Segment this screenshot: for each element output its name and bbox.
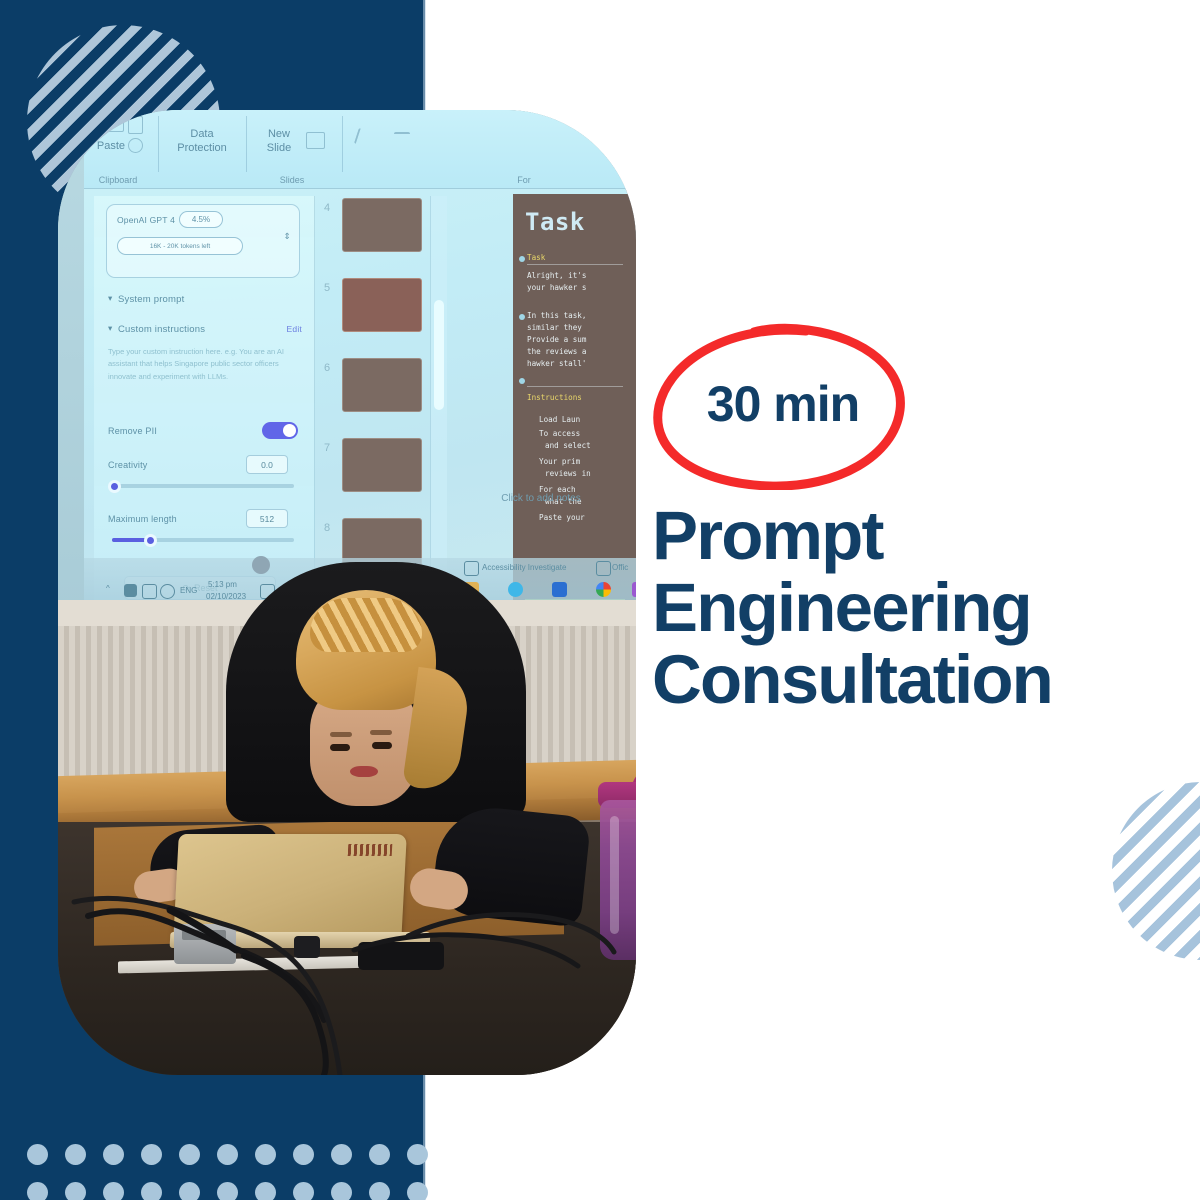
paste-button-label: Paste	[94, 140, 128, 154]
model-badge: 4.5%	[179, 211, 223, 228]
thumbnail-number: 4	[324, 202, 330, 214]
dot	[179, 1182, 200, 1200]
dot	[331, 1144, 352, 1165]
dot	[141, 1182, 162, 1200]
slide-bullet-dot	[519, 256, 525, 262]
dot	[27, 1144, 48, 1165]
current-slide[interactable]: Task Task Alright, it's your hawker s In…	[513, 194, 636, 610]
person-eye-left	[330, 744, 350, 751]
dot	[65, 1144, 86, 1165]
max-length-value[interactable]: 512	[246, 509, 288, 528]
ribbon-divider	[158, 116, 159, 172]
dot	[293, 1182, 314, 1200]
dot	[103, 1182, 124, 1200]
powerpoint-ribbon: Paste Clipboard Data Protection New Slid…	[84, 110, 636, 189]
slide-body-line-5: Provide a sum	[527, 334, 586, 346]
dot	[217, 1144, 238, 1165]
person-hair-braid	[310, 598, 422, 652]
outlook-icon[interactable]	[552, 582, 567, 597]
dot	[27, 1182, 48, 1200]
chevron-down-icon[interactable]: ▾	[108, 323, 112, 334]
power-adapter	[358, 942, 444, 970]
dot-grid-decoration	[27, 1144, 445, 1200]
page-title: Prompt Engineering Consultation	[652, 500, 1172, 715]
model-label: OpenAI GPT 4	[117, 215, 175, 225]
clipboard-icon	[104, 116, 124, 132]
max-length-slider-knob[interactable]	[144, 534, 157, 547]
dot	[369, 1144, 390, 1165]
ribbon-divider	[246, 116, 247, 172]
volume-icon[interactable]	[160, 584, 175, 599]
skype-icon[interactable]	[508, 582, 523, 597]
creativity-value[interactable]: 0.0	[246, 455, 288, 474]
slide-thumbnail-list: 4 5 6 7 8	[320, 196, 428, 610]
page-title-line-2: Engineering	[652, 572, 1172, 644]
scrollbar-thumb[interactable]	[434, 300, 444, 410]
system-prompt-label[interactable]: System prompt	[118, 294, 184, 305]
slide-body-line-2: your hawker s	[527, 282, 586, 294]
highlighter-icon	[394, 132, 410, 146]
model-selector-box[interactable]: OpenAI GPT 4 4.5% 16K - 20K tokens left …	[106, 204, 300, 278]
slide-divider	[527, 386, 623, 387]
slide-instruction-bullet: Load Laun	[539, 414, 580, 426]
slides-group-label: Slides	[262, 175, 322, 185]
ai-settings-panel: OpenAI GPT 4 4.5% 16K - 20K tokens left …	[94, 196, 315, 610]
slide-task-heading: Task	[527, 252, 545, 264]
dot	[255, 1144, 276, 1165]
slide-body-line-3: In this task,	[527, 310, 586, 322]
slide-body-line-7: hawker stall'	[527, 358, 586, 370]
slide-body-line-6: the reviews a	[527, 346, 586, 358]
taskbar-item-label[interactable]: Offic	[612, 563, 628, 572]
thumbnail-number: 8	[324, 522, 330, 534]
hero-photo-inner: Paste Clipboard Data Protection New Slid…	[58, 110, 636, 1075]
slide-thumbnail[interactable]	[342, 438, 422, 492]
remove-pii-toggle[interactable]	[262, 422, 298, 439]
laptop-logo	[348, 844, 393, 856]
person-eyebrow-right	[370, 730, 392, 735]
dot	[255, 1182, 276, 1200]
thumbnail-scrollbar[interactable]	[430, 196, 447, 610]
remove-pii-label: Remove PII	[108, 426, 157, 436]
show-hidden-icons-icon[interactable]: ^	[106, 584, 110, 593]
language-indicator[interactable]: ENG	[180, 586, 197, 595]
office-icon[interactable]	[596, 561, 611, 576]
creativity-slider-track[interactable]	[112, 484, 294, 488]
slide-instructions-heading: Instructions	[527, 392, 582, 404]
page-title-line-1: Prompt	[652, 500, 1172, 572]
person-eye-right	[372, 742, 392, 749]
edit-link[interactable]: Edit	[287, 324, 302, 334]
slide-bullet-dot	[519, 314, 525, 320]
slide-body-line-1: Alright, it's	[527, 270, 586, 282]
layout-icon	[306, 132, 325, 149]
usb-hub	[294, 936, 320, 958]
slide-instruction-bullet: Your prim	[539, 456, 580, 468]
hero-photo: Paste Clipboard Data Protection New Slid…	[58, 110, 636, 1075]
slide-thumbnail[interactable]	[342, 358, 422, 412]
duration-badge-label: 30 min	[648, 318, 918, 490]
duration-badge: 30 min	[648, 318, 918, 490]
new-slide-button-label: New Slide	[254, 128, 304, 156]
custom-instructions-label[interactable]: Custom instructions	[118, 324, 205, 335]
chevron-down-icon[interactable]: ▾	[108, 293, 112, 304]
thumbnail-number: 6	[324, 362, 330, 374]
slide-body-line-4: similar they	[527, 322, 582, 334]
dot	[293, 1144, 314, 1165]
thumbnail-number: 7	[324, 442, 330, 454]
data-protection-button-label: Data Protection	[166, 128, 238, 156]
clock-time[interactable]: 5:13 pm	[208, 580, 237, 589]
water-bottle-highlight	[610, 816, 619, 934]
chrome-icon[interactable]	[596, 582, 611, 597]
slide-instruction-bullet: and select	[545, 440, 591, 452]
format-painter-icon	[128, 138, 143, 153]
dot	[407, 1144, 428, 1165]
slide-title: Task	[525, 208, 585, 236]
slide-bullet-dot	[519, 378, 525, 384]
dot	[217, 1182, 238, 1200]
dot	[65, 1182, 86, 1200]
network-icon[interactable]	[142, 584, 157, 599]
slide-thumbnail[interactable]	[342, 278, 422, 332]
clipboard-group-label: Clipboard	[92, 175, 144, 185]
slide-instruction-bullet: To access	[539, 428, 580, 440]
person-eyebrow-left	[330, 732, 352, 737]
max-length-label: Maximum length	[108, 514, 177, 524]
pen-icon	[354, 128, 374, 148]
dot	[141, 1144, 162, 1165]
slide-divider	[527, 264, 623, 265]
dot	[103, 1144, 124, 1165]
accessibility-icon[interactable]	[464, 561, 479, 576]
page-title-line-3: Consultation	[652, 644, 1172, 716]
dot	[331, 1182, 352, 1200]
thumbnail-number: 5	[324, 282, 330, 294]
desk-power-outlet	[174, 924, 236, 964]
user-avatar-icon[interactable]	[252, 556, 270, 574]
app-icon[interactable]	[632, 582, 636, 597]
dot	[369, 1182, 390, 1200]
projection-left-wall	[58, 110, 84, 610]
slide-thumbnail[interactable]	[342, 198, 422, 252]
dot	[407, 1182, 428, 1200]
paste-options-icon	[128, 116, 143, 134]
striped-circle-bottom-right-icon	[1112, 782, 1200, 960]
custom-instruction-placeholder[interactable]: Type your custom instruction here. e.g. …	[108, 346, 298, 383]
person-lips	[350, 766, 378, 777]
ribbon-divider	[342, 116, 343, 172]
font-group-label: For	[504, 175, 544, 185]
creativity-slider-knob[interactable]	[108, 480, 121, 493]
poster-canvas: Paste Clipboard Data Protection New Slid…	[0, 0, 1200, 1200]
dot	[179, 1144, 200, 1165]
projected-screen: Paste Clipboard Data Protection New Slid…	[58, 110, 636, 610]
taskbar-item-label[interactable]: Accessibility Investigate	[482, 563, 566, 572]
battery-icon[interactable]	[124, 584, 137, 597]
creativity-label: Creativity	[108, 460, 148, 470]
model-stepper-icon[interactable]: ⇕	[284, 231, 291, 242]
notes-placeholder[interactable]: Click to add notes	[446, 478, 636, 518]
context-pill: 16K - 20K tokens left	[117, 237, 243, 255]
